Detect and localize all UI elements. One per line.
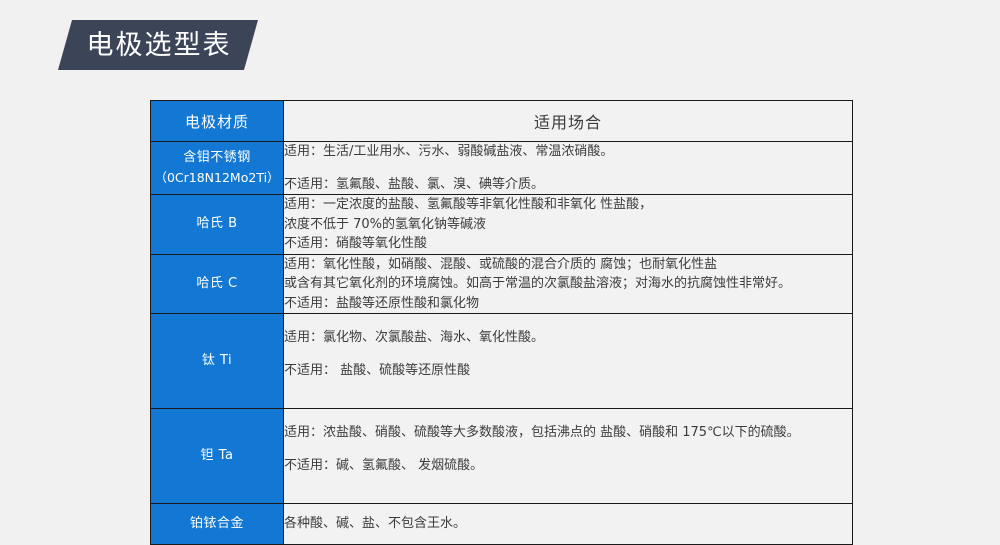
title-banner-shape: 电极选型表 (58, 20, 258, 70)
table-row: 钛 Ti 适用：氯化物、次氯酸盐、海水、氧化性酸。 不适用： 盐酸、硫酸等还原性… (151, 314, 853, 409)
usage-cell: 适用：氯化物、次氯酸盐、海水、氧化性酸。 不适用： 盐酸、硫酸等还原性酸 (284, 314, 853, 409)
table-row: 铂铱合金 各种酸、碱、盐、不包含王水。 (151, 504, 853, 545)
usage-line: 不适用：碱、氢氟酸、 发烟硫酸。 (284, 456, 852, 476)
material-cell: 哈氏 B (151, 195, 284, 255)
usage-cell: 适用：氧化性酸，如硝酸、混酸、或硫酸的混合介质的 腐蚀；也耐氧化性盐 或含有其它… (284, 254, 853, 314)
material-cell: 铂铱合金 (151, 504, 284, 545)
usage-line: 不适用：氢氟酸、盐酸、氯、溴、碘等介质。 (284, 175, 852, 195)
usage-line: 不适用： 盐酸、硫酸等还原性酸 (284, 361, 852, 381)
usage-line: 适用：氯化物、次氯酸盐、海水、氧化性酸。 (284, 328, 852, 348)
usage-line: 或含有其它氧化剂的环境腐蚀。如高于常温的次氯酸盐溶液；对海水的抗腐蚀性非常好。 (284, 274, 852, 294)
page-title-banner: 电极选型表 (58, 20, 258, 70)
usage-cell: 适用：生活/工业用水、污水、弱酸碱盐液、常温浓硝酸。 不适用：氢氟酸、盐酸、氯、… (284, 142, 853, 195)
material-cell: 钽 Ta (151, 409, 284, 504)
usage-line: 适用：生活/工业用水、污水、弱酸碱盐液、常温浓硝酸。 (284, 142, 852, 162)
usage-cell: 适用：浓盐酸、硝酸、硫酸等大多数酸液，包括沸点的 盐酸、硝酸和 175℃以下的硫… (284, 409, 853, 504)
usage-cell: 各种酸、碱、盐、不包含王水。 (284, 504, 853, 545)
usage-line: 各种酸、碱、盐、不包含王水。 (284, 514, 852, 534)
electrode-selection-table-container: 电极材质 适用场合 含钼不锈钢 （0Cr18N12Mo2Ti） 适用：生活/工业… (150, 100, 852, 545)
material-name: 钛 Ti (202, 353, 232, 368)
material-name: 钽 Ta (201, 448, 234, 463)
column-header-material: 电极材质 (151, 101, 284, 142)
page-title: 电极选型表 (85, 32, 232, 59)
material-code: （0Cr18N12Mo2Ti） (151, 168, 283, 187)
usage-line: 适用：一定浓度的盐酸、氢氟酸等非氧化性酸和非氧化 性盐酸， (284, 195, 852, 215)
usage-line: 不适用：硝酸等氧化性酸 (284, 234, 852, 254)
table-row: 含钼不锈钢 （0Cr18N12Mo2Ti） 适用：生活/工业用水、污水、弱酸碱盐… (151, 142, 853, 195)
table-row: 哈氏 C 适用：氧化性酸，如硝酸、混酸、或硫酸的混合介质的 腐蚀；也耐氧化性盐 … (151, 254, 853, 314)
usage-line: 适用：浓盐酸、硝酸、硫酸等大多数酸液，包括沸点的 盐酸、硝酸和 175℃以下的硫… (284, 423, 852, 443)
material-cell: 钛 Ti (151, 314, 284, 409)
column-header-usage: 适用场合 (284, 101, 853, 142)
usage-cell: 适用：一定浓度的盐酸、氢氟酸等非氧化性酸和非氧化 性盐酸， 浓度不低于 70%的… (284, 195, 853, 255)
material-name: 含钼不锈钢 (183, 150, 251, 165)
material-cell: 含钼不锈钢 （0Cr18N12Mo2Ti） (151, 142, 284, 195)
usage-line: 不适用：盐酸等还原性酸和氯化物 (284, 294, 852, 314)
usage-line: 适用：氧化性酸，如硝酸、混酸、或硫酸的混合介质的 腐蚀；也耐氧化性盐 (284, 255, 852, 275)
material-name: 铂铱合金 (190, 516, 244, 531)
usage-line: 浓度不低于 70%的氢氧化钠等碱液 (284, 215, 852, 235)
material-name: 哈氏 B (196, 216, 237, 231)
table-row: 哈氏 B 适用：一定浓度的盐酸、氢氟酸等非氧化性酸和非氧化 性盐酸， 浓度不低于… (151, 195, 853, 255)
material-cell: 哈氏 C (151, 254, 284, 314)
material-name: 哈氏 C (196, 276, 237, 291)
table-row: 钽 Ta 适用：浓盐酸、硝酸、硫酸等大多数酸液，包括沸点的 盐酸、硝酸和 175… (151, 409, 853, 504)
electrode-selection-table: 电极材质 适用场合 含钼不锈钢 （0Cr18N12Mo2Ti） 适用：生活/工业… (150, 100, 853, 545)
table-header-row: 电极材质 适用场合 (151, 101, 853, 142)
